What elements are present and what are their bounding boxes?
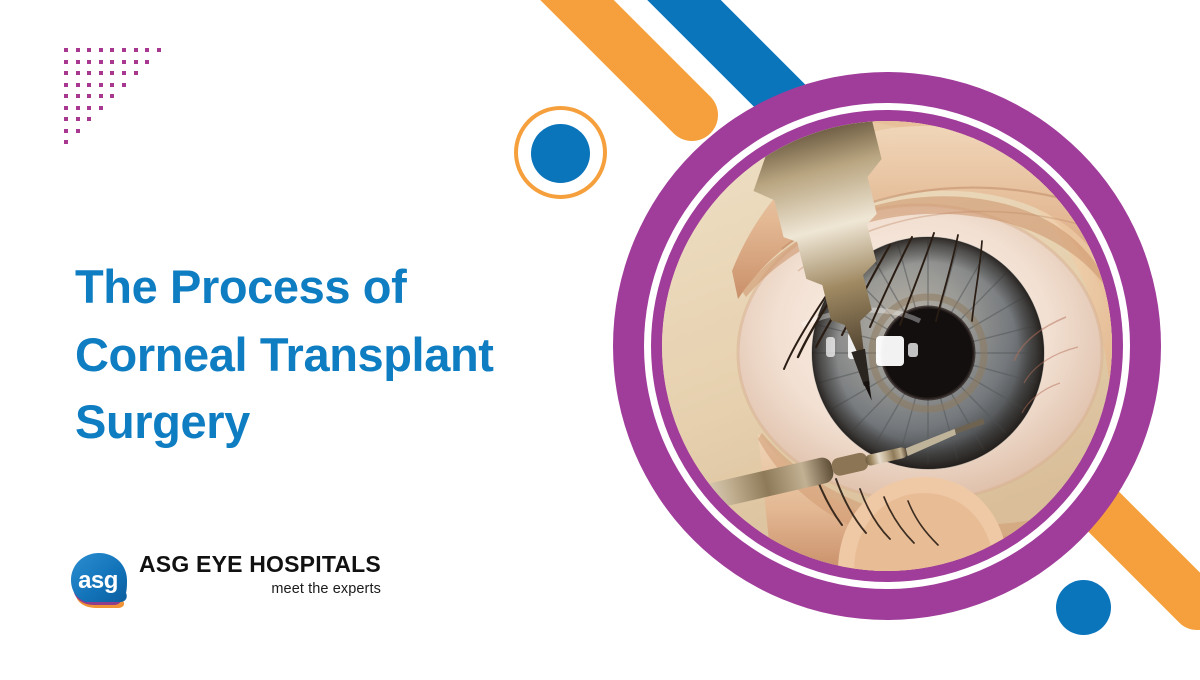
dot-row bbox=[64, 117, 174, 129]
pattern-dot bbox=[76, 106, 80, 110]
pattern-dot bbox=[99, 94, 103, 98]
pattern-dot bbox=[76, 117, 80, 121]
pattern-dot bbox=[122, 71, 126, 75]
pattern-dot bbox=[87, 71, 91, 75]
pattern-dot bbox=[64, 94, 68, 98]
pattern-dot bbox=[64, 117, 68, 121]
pattern-dot bbox=[87, 117, 91, 121]
logo-title: ASG EYE HOSPITALS bbox=[139, 553, 381, 576]
pattern-dot bbox=[110, 48, 114, 52]
pattern-dot bbox=[110, 71, 114, 75]
dot-row bbox=[64, 94, 174, 106]
blue-filled-circle-bottom bbox=[1056, 580, 1111, 635]
dot-row bbox=[64, 140, 174, 152]
pattern-dot bbox=[64, 71, 68, 75]
title-line-1: The Process of bbox=[75, 253, 615, 320]
pattern-dot bbox=[122, 83, 126, 87]
pattern-dot bbox=[76, 48, 80, 52]
pattern-dot bbox=[134, 48, 138, 52]
dot-row bbox=[64, 106, 174, 118]
pattern-dot bbox=[99, 71, 103, 75]
pattern-dot bbox=[122, 48, 126, 52]
pattern-dot bbox=[87, 83, 91, 87]
pattern-dot bbox=[99, 60, 103, 64]
pattern-dot bbox=[134, 71, 138, 75]
pattern-dot bbox=[99, 106, 103, 110]
logo-tagline: meet the experts bbox=[139, 582, 381, 597]
pattern-dot bbox=[76, 71, 80, 75]
logo-text-block: ASG EYE HOSPITALS meet the experts bbox=[139, 549, 381, 597]
title-line-3: Surgery bbox=[75, 388, 615, 455]
dot-row bbox=[64, 83, 174, 95]
pattern-dot bbox=[76, 83, 80, 87]
pattern-dot bbox=[76, 60, 80, 64]
pattern-dot bbox=[64, 83, 68, 87]
pattern-dot bbox=[87, 106, 91, 110]
pattern-dot bbox=[87, 60, 91, 64]
dot-row bbox=[64, 129, 174, 141]
page-title: The Process of Corneal Transplant Surger… bbox=[75, 253, 615, 455]
pattern-dot bbox=[99, 83, 103, 87]
pattern-dot bbox=[110, 60, 114, 64]
title-line-2: Corneal Transplant bbox=[75, 321, 615, 388]
pattern-dot bbox=[157, 48, 161, 52]
eye-surgery-photo bbox=[662, 121, 1112, 571]
asg-mark-text: asg bbox=[78, 567, 118, 594]
blue-filled-circle-top bbox=[531, 124, 590, 183]
pattern-dot bbox=[110, 94, 114, 98]
pattern-dot bbox=[64, 60, 68, 64]
pattern-dot bbox=[87, 48, 91, 52]
pattern-dot bbox=[145, 48, 149, 52]
pattern-dot bbox=[99, 48, 103, 52]
pattern-dot bbox=[122, 60, 126, 64]
pattern-dot bbox=[64, 48, 68, 52]
slide-canvas: The Process of Corneal Transplant Surger… bbox=[0, 0, 1200, 680]
purple-dot-triangle-icon bbox=[64, 48, 174, 163]
pattern-dot bbox=[76, 94, 80, 98]
pattern-dot bbox=[64, 129, 68, 133]
pattern-dot bbox=[64, 140, 68, 144]
brand-logo[interactable]: asg ASG EYE HOSPITALS meet the experts bbox=[66, 549, 381, 611]
dot-row bbox=[64, 60, 174, 72]
dot-row bbox=[64, 71, 174, 83]
dot-row bbox=[64, 48, 174, 60]
pattern-dot bbox=[87, 94, 91, 98]
pattern-dot bbox=[76, 129, 80, 133]
pattern-dot bbox=[134, 60, 138, 64]
pattern-dot bbox=[110, 83, 114, 87]
pattern-dot bbox=[64, 106, 68, 110]
pattern-dot bbox=[145, 60, 149, 64]
asg-logo-mark-icon: asg bbox=[66, 551, 132, 611]
